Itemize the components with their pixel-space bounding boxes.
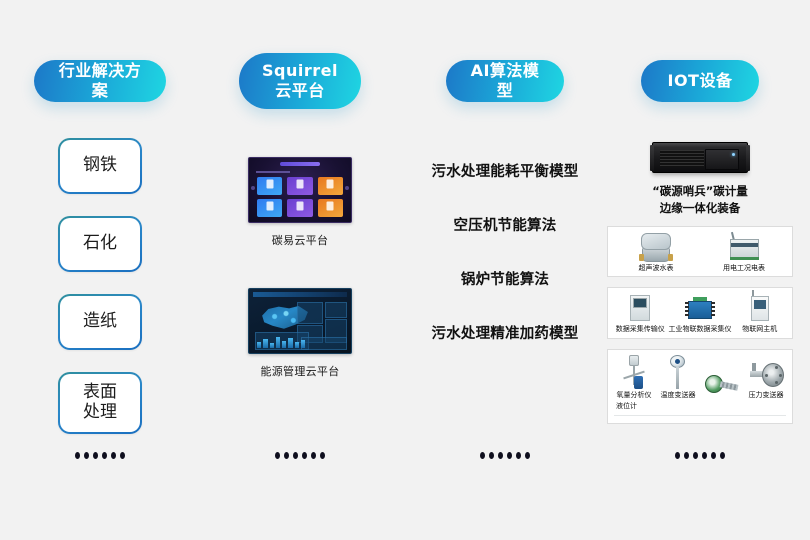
bar bbox=[263, 339, 267, 348]
dashboard-panel bbox=[301, 337, 347, 350]
more-dots-industry-solutions bbox=[75, 452, 125, 459]
iot-device-panel-transmitters: 氧量分析仪 温度变送器 bbox=[607, 349, 793, 424]
iot-host-icon bbox=[749, 293, 771, 323]
meter-lid bbox=[641, 233, 671, 250]
meter-body bbox=[730, 239, 759, 258]
flange-bolt bbox=[775, 381, 778, 384]
meter-flange-right bbox=[668, 254, 673, 261]
device-screen bbox=[633, 298, 647, 308]
header-pill-squirrel-cloud-label-line2: 云平台 bbox=[262, 81, 338, 101]
dashboard-tile bbox=[318, 199, 343, 217]
iot-device-row: 超声波水表 用电工况电表 bbox=[612, 232, 788, 273]
dashboard-tile bbox=[318, 177, 343, 195]
iot-device-label: 氧量分析仪 bbox=[612, 391, 656, 400]
column-industry-solutions: 行业解决方案 钢铁 石化 造纸 表面 处理 bbox=[0, 0, 200, 540]
dashboard-left-marker bbox=[251, 186, 255, 190]
industry-box-petrochemical[interactable]: 石化 bbox=[58, 216, 142, 272]
flange-bolt bbox=[779, 374, 782, 377]
ultrasonic-water-meter-icon bbox=[639, 232, 673, 262]
carbon-cloud-dashboard-screenshot bbox=[248, 157, 352, 223]
iot-device-label: 超声波水表 bbox=[612, 264, 700, 273]
iot-device-oxygen-analyzer[interactable]: 氧量分析仪 bbox=[612, 355, 656, 400]
header-pill-iot-devices-label: IOT设备 bbox=[668, 71, 733, 91]
dot bbox=[675, 452, 680, 459]
algorithm-item-wastewater-precise-dosing[interactable]: 污水处理精准加药模型 bbox=[405, 322, 605, 343]
panel-divider bbox=[614, 415, 786, 416]
header-pill-industry-solutions[interactable]: 行业解决方案 bbox=[34, 60, 166, 102]
energy-management-dashboard-screenshot bbox=[248, 288, 352, 354]
transmitter-port bbox=[675, 359, 680, 364]
dot bbox=[516, 452, 521, 459]
iot-device-ultrasonic-water-meter[interactable]: 超声波水表 bbox=[612, 232, 700, 273]
iot-hero-caption-line2: 边缘一体化装备 bbox=[607, 200, 793, 217]
pressure-transmitter-icon bbox=[748, 361, 784, 389]
column-squirrel-cloud: Squirrel 云平台 碳易云平台 bbox=[200, 0, 400, 540]
platform-card-carbon-cloud-caption: 碳易云平台 bbox=[248, 232, 352, 248]
header-pill-ai-algorithm-models[interactable]: AI算法模型 bbox=[446, 60, 564, 102]
dashboard-panel bbox=[297, 302, 323, 324]
iot-device-row: 数据采集传输仪 工业物联数据采集仪 bbox=[612, 293, 788, 334]
dot bbox=[284, 452, 289, 459]
header-pill-iot-devices[interactable]: IOT设备 bbox=[641, 60, 759, 102]
iot-device-label: 用电工况电表 bbox=[700, 264, 788, 273]
dot bbox=[693, 452, 698, 459]
industry-box-steel[interactable]: 钢铁 bbox=[58, 138, 142, 194]
dashboard-tile-grid bbox=[257, 177, 343, 217]
gateway-pins-left bbox=[685, 302, 689, 318]
flange-bolt bbox=[765, 374, 768, 377]
iot-device-temperature-transmitter[interactable]: 温度变送器 bbox=[656, 355, 700, 400]
flange-bolt bbox=[775, 366, 778, 369]
iot-device-label: 压力变送器 bbox=[744, 391, 788, 400]
more-dots-squirrel-cloud bbox=[275, 452, 325, 459]
bar bbox=[276, 337, 280, 348]
electric-meter-icon bbox=[727, 232, 761, 262]
meter-flange-left bbox=[639, 254, 644, 261]
industry-box-surface-treatment[interactable]: 表面 处理 bbox=[58, 372, 142, 434]
gateway-body bbox=[688, 301, 712, 319]
bar bbox=[295, 342, 299, 348]
header-pill-industry-solutions-label: 行业解决方案 bbox=[52, 61, 148, 100]
dot bbox=[498, 452, 503, 459]
more-dots-iot-devices bbox=[675, 452, 725, 459]
dot bbox=[525, 452, 530, 459]
industry-box-steel-label: 钢铁 bbox=[83, 156, 117, 176]
iot-device-gallery: “碳源哨兵”碳计量 边缘一体化装备 超声波水表 bbox=[607, 142, 793, 424]
dot bbox=[102, 452, 107, 459]
meter-terminal-strip bbox=[730, 257, 759, 260]
algorithm-item-boiler-saving[interactable]: 锅炉节能算法 bbox=[405, 268, 605, 289]
platform-card-energy-cloud-caption: 能源管理云平台 bbox=[248, 363, 352, 379]
platform-card-carbon-cloud[interactable]: 碳易云平台 bbox=[248, 157, 352, 248]
iot-hero-device[interactable]: “碳源哨兵”碳计量 边缘一体化装备 bbox=[607, 142, 793, 216]
butterfly-valve-icon bbox=[705, 372, 739, 398]
iot-device-butterfly-valve[interactable] bbox=[700, 372, 744, 400]
bar bbox=[282, 341, 286, 348]
dot bbox=[302, 452, 307, 459]
server-led bbox=[732, 153, 735, 156]
server-vent bbox=[660, 150, 704, 167]
header-pill-ai-algorithm-models-label: AI算法模型 bbox=[464, 61, 546, 100]
industry-box-surface-treatment-label: 表面 处理 bbox=[83, 383, 117, 422]
dot bbox=[311, 452, 316, 459]
dashboard-panel bbox=[325, 302, 347, 318]
more-dots-ai-algorithm-models bbox=[480, 452, 530, 459]
dot bbox=[702, 452, 707, 459]
iot-device-label: 工业物联数据采集仪 bbox=[669, 325, 732, 334]
bar bbox=[270, 343, 274, 348]
iot-device-panel-meters: 超声波水表 用电工况电表 bbox=[607, 226, 793, 277]
algorithm-item-air-compressor-saving[interactable]: 空压机节能算法 bbox=[405, 214, 605, 235]
rackmount-server-icon bbox=[652, 142, 748, 173]
column-ai-algorithm-models: AI算法模型 污水处理能耗平衡模型 空压机节能算法 锅炉节能算法 污水处理精准加… bbox=[405, 0, 605, 540]
bar bbox=[288, 338, 292, 348]
temperature-transmitter-icon bbox=[668, 355, 688, 389]
dashboard-subtitle-bar bbox=[256, 171, 290, 173]
industrial-iot-gateway-icon bbox=[685, 297, 715, 323]
industry-box-papermaking-label: 造纸 bbox=[83, 312, 117, 332]
dot bbox=[93, 452, 98, 459]
iot-device-electric-meter[interactable]: 用电工况电表 bbox=[700, 232, 788, 273]
meter-display-strip bbox=[731, 243, 758, 247]
iot-hero-caption: “碳源哨兵”碳计量 边缘一体化装备 bbox=[607, 183, 793, 216]
analyzer-float bbox=[634, 376, 643, 389]
dashboard-top-bar bbox=[253, 292, 347, 297]
iot-device-label: 温度变送器 bbox=[656, 391, 700, 400]
dashboard-bar-chart bbox=[257, 336, 305, 348]
iot-device-label: 数据采集传输仪 bbox=[612, 325, 669, 334]
iot-device-data-acquisition-transmitter[interactable]: 数据采集传输仪 bbox=[612, 293, 669, 334]
dot bbox=[684, 452, 689, 459]
industry-box-papermaking[interactable]: 造纸 bbox=[58, 294, 142, 350]
data-acquisition-transmitter-icon bbox=[627, 293, 653, 323]
industry-box-petrochemical-label: 石化 bbox=[83, 234, 117, 254]
bar bbox=[257, 342, 261, 348]
dot bbox=[75, 452, 80, 459]
iot-device-panel-acquisition: 数据采集传输仪 工业物联数据采集仪 bbox=[607, 287, 793, 338]
iot-device-sublabel-level-gauge: 液位计 bbox=[616, 401, 788, 411]
algorithm-item-wastewater-energy-balance[interactable]: 污水处理能耗平衡模型 bbox=[405, 160, 605, 181]
platform-card-energy-cloud[interactable]: 能源管理云平台 bbox=[248, 288, 352, 379]
dot bbox=[711, 452, 716, 459]
dot bbox=[507, 452, 512, 459]
algorithm-list: 污水处理能耗平衡模型 空压机节能算法 锅炉节能算法 污水处理精准加药模型 bbox=[405, 160, 605, 376]
solution-architecture-board: 行业解决方案 钢铁 石化 造纸 表面 处理 Squirrel 云平台 bbox=[0, 0, 810, 540]
dashboard-title-bar bbox=[280, 162, 320, 166]
dot bbox=[111, 452, 116, 459]
dot bbox=[120, 452, 125, 459]
column-iot-devices: IOT设备 “碳源哨兵”碳计量 边缘一体化装备 bbox=[600, 0, 800, 540]
iot-device-row: 氧量分析仪 温度变送器 bbox=[612, 355, 788, 400]
iot-device-iot-host[interactable]: 物联网主机 bbox=[732, 293, 789, 334]
iot-hero-caption-line1: “碳源哨兵”碳计量 bbox=[607, 183, 793, 200]
header-pill-squirrel-cloud[interactable]: Squirrel 云平台 bbox=[239, 53, 361, 109]
host-screen bbox=[754, 300, 766, 309]
iot-device-industrial-iot-gateway[interactable]: 工业物联数据采集仪 bbox=[669, 297, 732, 334]
oxygen-analyzer-icon bbox=[619, 355, 649, 389]
transmitter-stem bbox=[676, 367, 679, 389]
gateway-pins-right bbox=[711, 302, 715, 318]
dashboard-right-marker bbox=[345, 186, 349, 190]
dot bbox=[293, 452, 298, 459]
valve-tail bbox=[720, 381, 739, 391]
dot bbox=[320, 452, 325, 459]
dashboard-tile bbox=[257, 199, 282, 217]
dot bbox=[489, 452, 494, 459]
dot bbox=[480, 452, 485, 459]
dot bbox=[720, 452, 725, 459]
header-pill-squirrel-cloud-label-line1: Squirrel bbox=[262, 61, 338, 81]
server-ear-right bbox=[746, 145, 750, 171]
bar bbox=[301, 340, 305, 348]
industry-box-list: 钢铁 石化 造纸 表面 处理 bbox=[58, 138, 142, 456]
dashboard-tile bbox=[287, 177, 312, 195]
dot bbox=[84, 452, 89, 459]
server-ear-left bbox=[650, 145, 654, 171]
dashboard-tile bbox=[287, 199, 312, 217]
dashboard-tile bbox=[257, 177, 282, 195]
iot-device-pressure-transmitter[interactable]: 压力变送器 bbox=[744, 361, 788, 400]
iot-device-label: 物联网主机 bbox=[732, 325, 789, 334]
dot bbox=[275, 452, 280, 459]
